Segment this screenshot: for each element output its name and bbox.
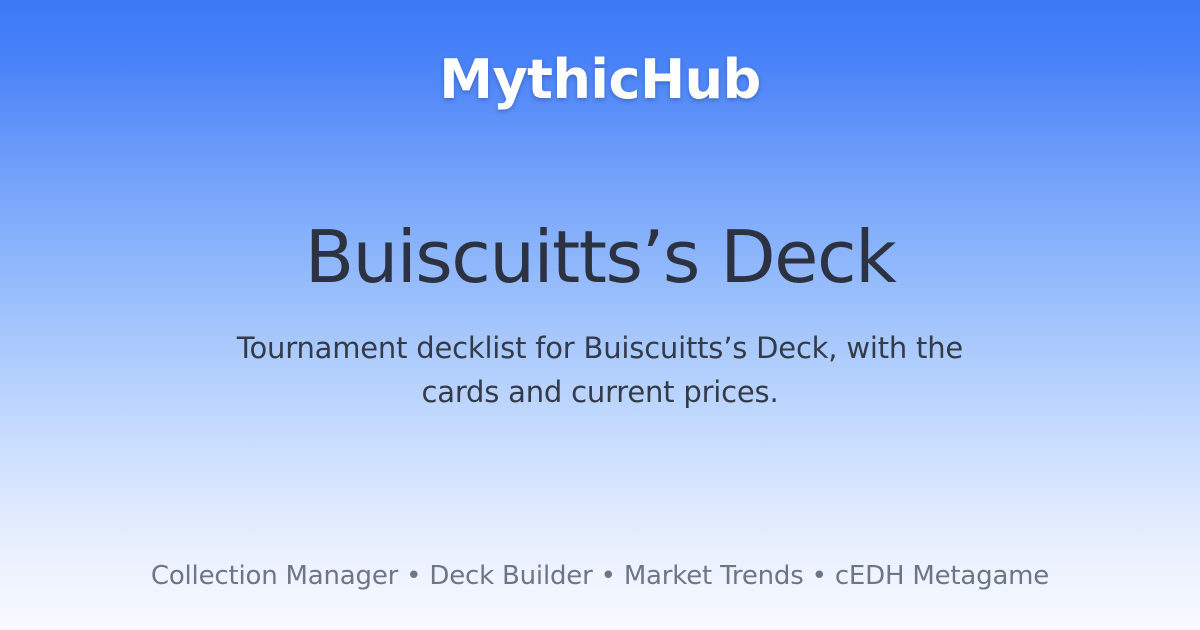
page-subtitle: Tournament decklist for Buiscuitts’s Dec… xyxy=(205,327,995,414)
og-share-card: MythicHub Buiscuitts’s Deck Tournament d… xyxy=(0,0,1200,630)
hero-section: Buiscuitts’s Deck Tournament decklist fo… xyxy=(0,218,1200,414)
brand-header: MythicHub xyxy=(0,0,1200,160)
footer-feature-list: Collection Manager • Deck Builder • Mark… xyxy=(0,561,1200,592)
brand-logo-text: MythicHub xyxy=(439,53,761,107)
page-title: Buiscuitts’s Deck xyxy=(305,218,896,297)
